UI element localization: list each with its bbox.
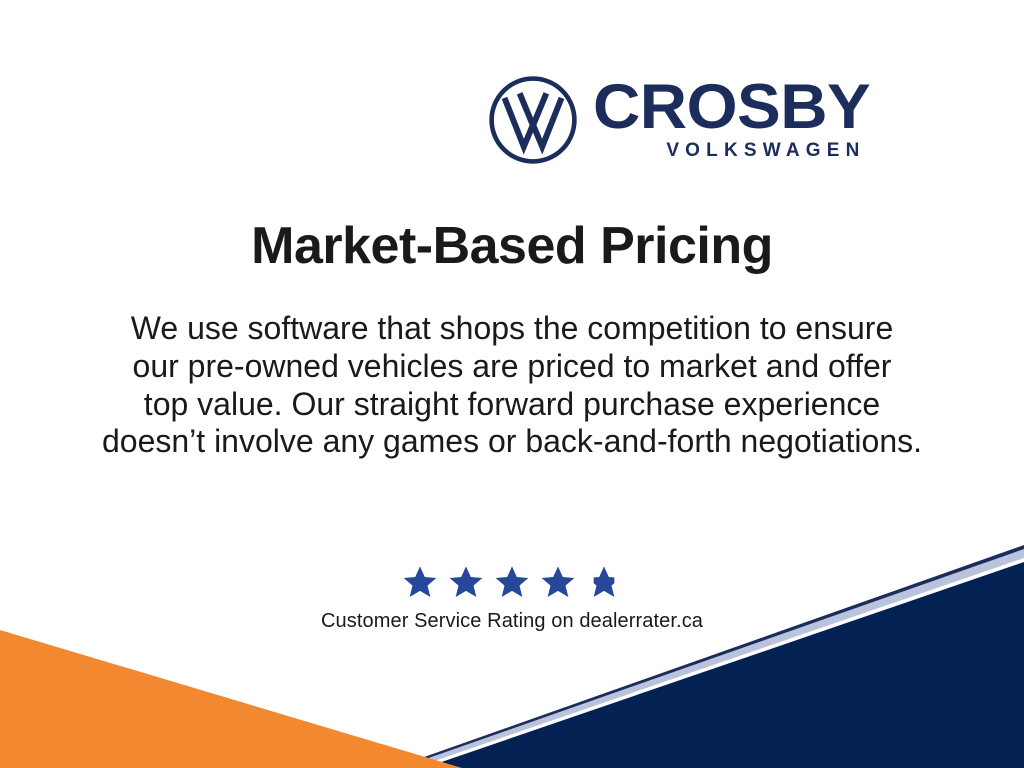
volkswagen-roundel-icon xyxy=(487,74,579,166)
page-title: Market-Based Pricing xyxy=(0,216,1024,276)
body-line-1: We use software that shops the competiti… xyxy=(92,310,932,348)
slide-canvas: CROSBY VOLKSWAGEN Market-Based Pricing W… xyxy=(0,0,1024,768)
rating-caption: Customer Service Rating on dealerrater.c… xyxy=(0,610,1024,633)
star-half-icon xyxy=(586,564,622,600)
dealer-name: CROSBY xyxy=(593,78,870,138)
rating-block: Customer Service Rating on dealerrater.c… xyxy=(0,562,1024,633)
star-filled-icon xyxy=(540,564,576,600)
star-rating xyxy=(0,562,1024,602)
star-filled-icon xyxy=(448,564,484,600)
body-paragraph: We use software that shops the competiti… xyxy=(92,310,932,461)
brand-make: VOLKSWAGEN xyxy=(666,140,865,162)
star-filled-icon xyxy=(402,564,438,600)
orange-triangle-shape xyxy=(0,630,462,768)
brand-logo: CROSBY VOLKSWAGEN xyxy=(487,74,917,170)
brand-wordmark: CROSBY VOLKSWAGEN xyxy=(593,74,860,162)
star-filled-icon xyxy=(494,564,530,600)
body-line-3: top value. Our straight forward purchase… xyxy=(92,386,932,424)
body-line-4: doesn’t involve any games or back-and-fo… xyxy=(92,423,932,461)
body-line-2: our pre-owned vehicles are priced to mar… xyxy=(92,348,932,386)
